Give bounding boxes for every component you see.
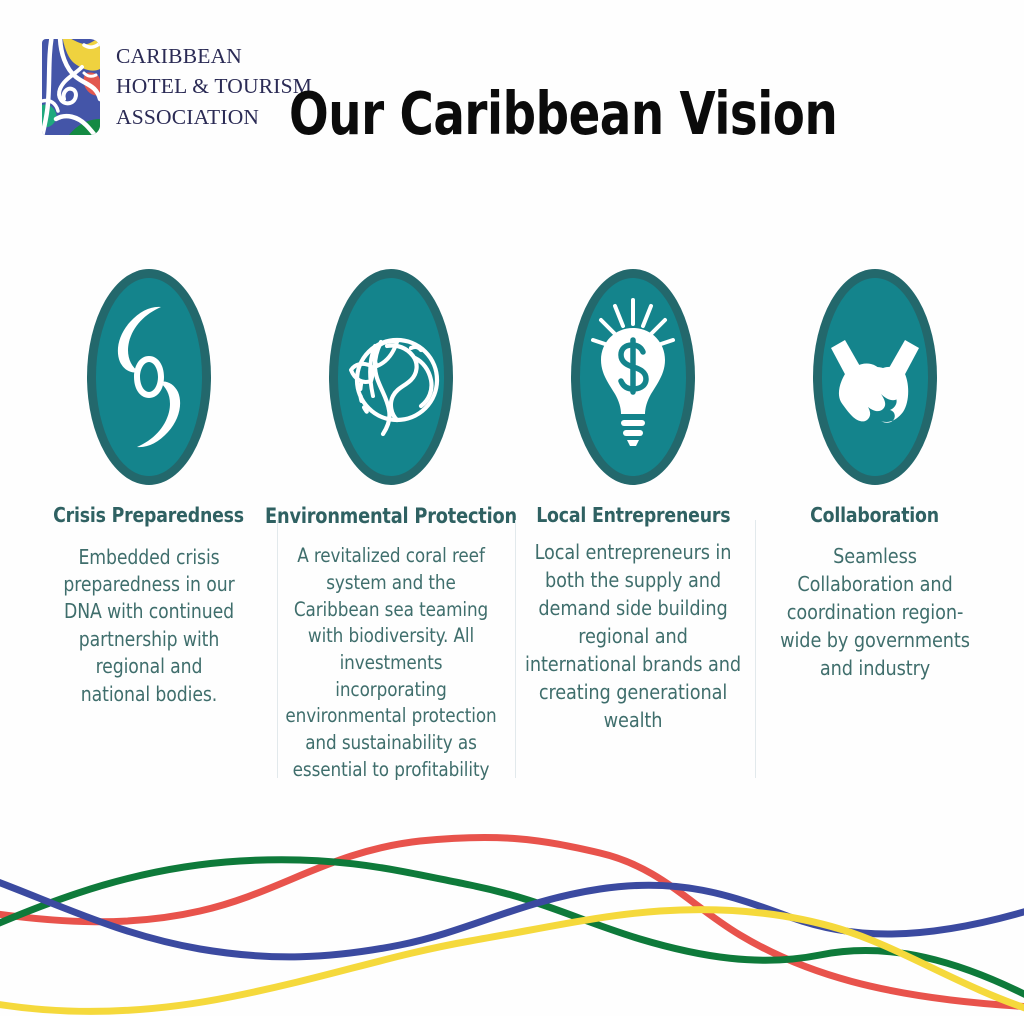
- pillar-body: A revitalized coral reef system and the …: [283, 543, 500, 783]
- logo-line-2: HOTEL & TOURISM: [116, 72, 312, 101]
- pillar-title: Environmental Protection: [265, 504, 517, 528]
- yellow-wave: [0, 910, 1024, 1012]
- green-wave: [0, 860, 1024, 999]
- pillar-body: Embedded crisis preparedness in our DNA …: [62, 544, 237, 708]
- red-wave: [0, 837, 1024, 1007]
- pillar-row: Crisis Preparedness Embedded crisis prep…: [28, 262, 996, 783]
- pillar-badge: [83, 262, 215, 492]
- hurricane-icon: [83, 262, 215, 492]
- pillar-local-entrepreneurs: Local Entrepreneurs Local entrepreneurs …: [512, 262, 754, 734]
- lightbulb-dollar-icon: [567, 262, 699, 492]
- organization-logo: CARIBBEAN HOTEL & TOURISM ASSOCIATION: [38, 33, 312, 141]
- pillar-crisis-preparedness: Crisis Preparedness Embedded crisis prep…: [28, 262, 270, 708]
- page-title: Our Caribbean Vision: [289, 84, 837, 143]
- logo-line-3: ASSOCIATION: [116, 103, 312, 132]
- pillar-environmental-protection: Environmental Protection A revitalized c…: [270, 262, 512, 783]
- globe-leaf-icon: [325, 262, 457, 492]
- handshake-icon: [809, 262, 941, 492]
- pillar-body: Local entrepreneurs in both the supply a…: [522, 538, 745, 735]
- pillar-badge: [809, 262, 941, 492]
- organization-name: CARIBBEAN HOTEL & TOURISM ASSOCIATION: [116, 42, 312, 131]
- pillar-badge: [567, 262, 699, 492]
- pillar-title: Collaboration: [811, 504, 940, 528]
- pillar-body: Seamless Collaboration and coordination …: [773, 542, 977, 682]
- decorative-ribbon-waves: [0, 831, 1024, 1016]
- pillar-title: Local Entrepreneurs: [536, 504, 730, 528]
- slide-canvas: CARIBBEAN HOTEL & TOURISM ASSOCIATION Ou…: [0, 0, 1024, 1016]
- pillar-title: Crisis Preparedness: [54, 504, 245, 528]
- caribbean-mosaic-logo-icon: [38, 33, 104, 141]
- pillar-collaboration: Collaboration Seamless Collaboration and…: [754, 262, 996, 682]
- slide-header: CARIBBEAN HOTEL & TOURISM ASSOCIATION Ou…: [0, 0, 1024, 175]
- logo-line-1: CARIBBEAN: [116, 42, 312, 71]
- pillar-badge: [325, 262, 457, 492]
